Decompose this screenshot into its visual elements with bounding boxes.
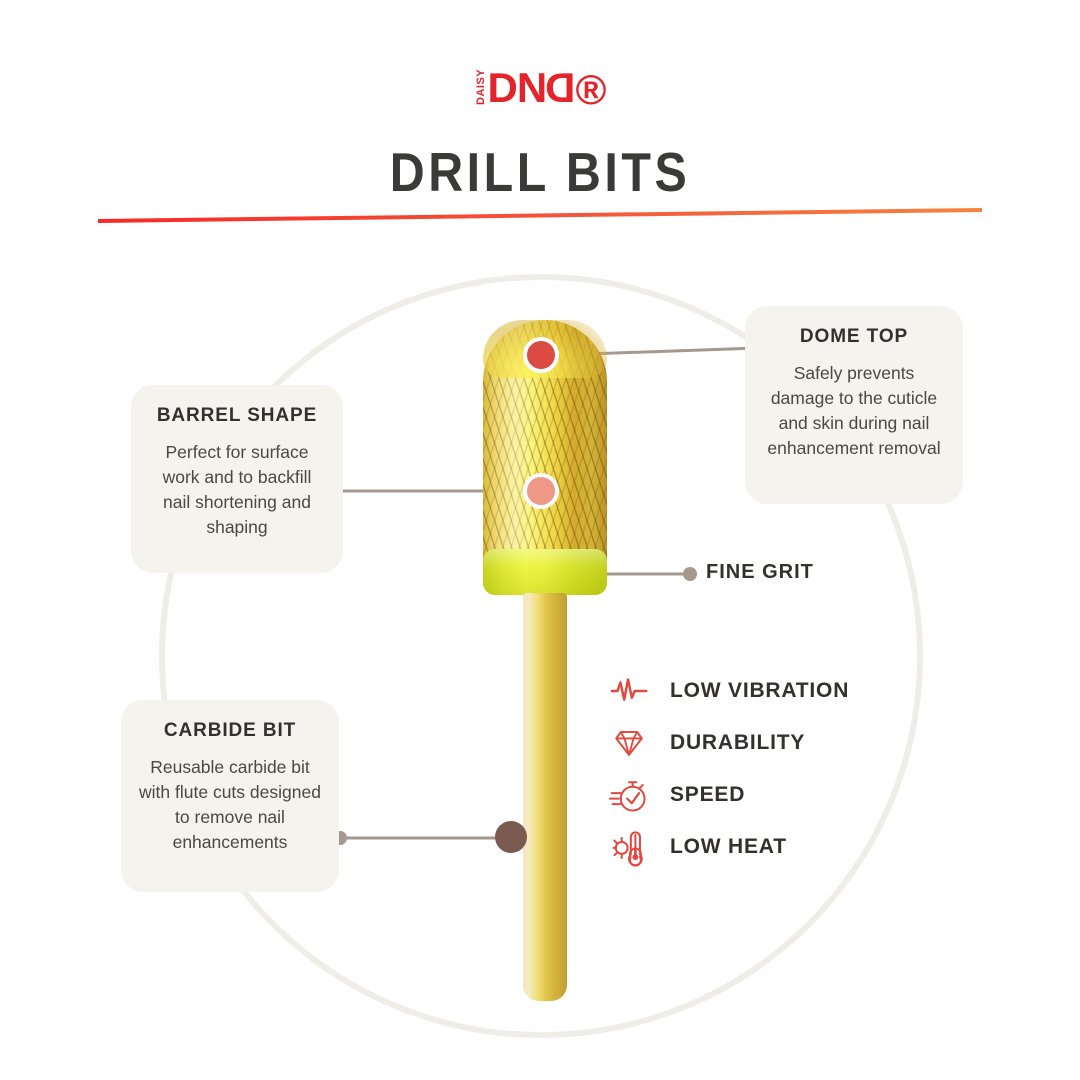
callout-carbide-bit: CARBIDE BIT Reusable carbide bit with fl… (121, 700, 339, 892)
callout-dome-top: DOME TOP Safely prevents damage to the c… (745, 306, 963, 504)
brand-dnd-left: DN (488, 69, 547, 107)
stopwatch-icon (606, 772, 652, 818)
callout-barrel-shape: BARREL SHAPE Perfect for surface work an… (131, 385, 343, 573)
page-title: DRILL BITS (65, 140, 1015, 204)
drill-bit-illustration (470, 315, 620, 1015)
feature-row-speed: SPEED (606, 769, 936, 821)
callout-barrel-shape-body: Perfect for surface work and to backfill… (147, 440, 327, 540)
diamond-icon (606, 720, 652, 766)
bit-grit-band-highlight (483, 549, 607, 595)
marker-barrel-shape[interactable] (523, 473, 559, 509)
waveform-icon (606, 668, 652, 714)
brand-dnd-mark: DN D ® (488, 69, 606, 107)
feature-label-durability: DURABILITY (670, 731, 805, 755)
brand-dnd-mirrored-d: D (546, 69, 575, 107)
feature-row-durability: DURABILITY (606, 717, 936, 769)
marker-dome-top[interactable] (523, 337, 559, 373)
connector-dot-fine-grit (683, 567, 697, 581)
feature-row-low-vibration: LOW VIBRATION (606, 665, 936, 717)
callout-dome-top-body: Safely prevents damage to the cuticle an… (761, 361, 947, 461)
feature-label-speed: SPEED (670, 783, 745, 807)
callout-dome-top-title: DOME TOP (761, 326, 947, 348)
callout-carbide-bit-body: Reusable carbide bit with flute cuts des… (137, 755, 323, 855)
callout-barrel-shape-title: BARREL SHAPE (147, 405, 327, 427)
infographic-page: DAISY DN D ® DRILL BITS (0, 0, 1080, 1080)
bit-shaft-highlight (523, 593, 567, 1001)
feature-row-low-heat: LOW HEAT (606, 821, 936, 873)
label-fine-grit: FINE GRIT (706, 561, 814, 584)
brand-daisy-text: DAISY (475, 71, 487, 105)
callout-carbide-bit-title: CARBIDE BIT (137, 720, 323, 742)
feature-label-low-vibration: LOW VIBRATION (670, 679, 849, 703)
feature-list: LOW VIBRATION DURABILITY SPEED (606, 665, 936, 873)
marker-carbide-bit[interactable] (495, 821, 527, 853)
trademark-symbol: ® (576, 71, 606, 109)
brand-logo: DAISY DN D ® (0, 64, 1080, 112)
title-divider (98, 207, 982, 227)
feature-label-low-heat: LOW HEAT (670, 835, 787, 859)
thermometer-sun-icon (606, 824, 652, 870)
